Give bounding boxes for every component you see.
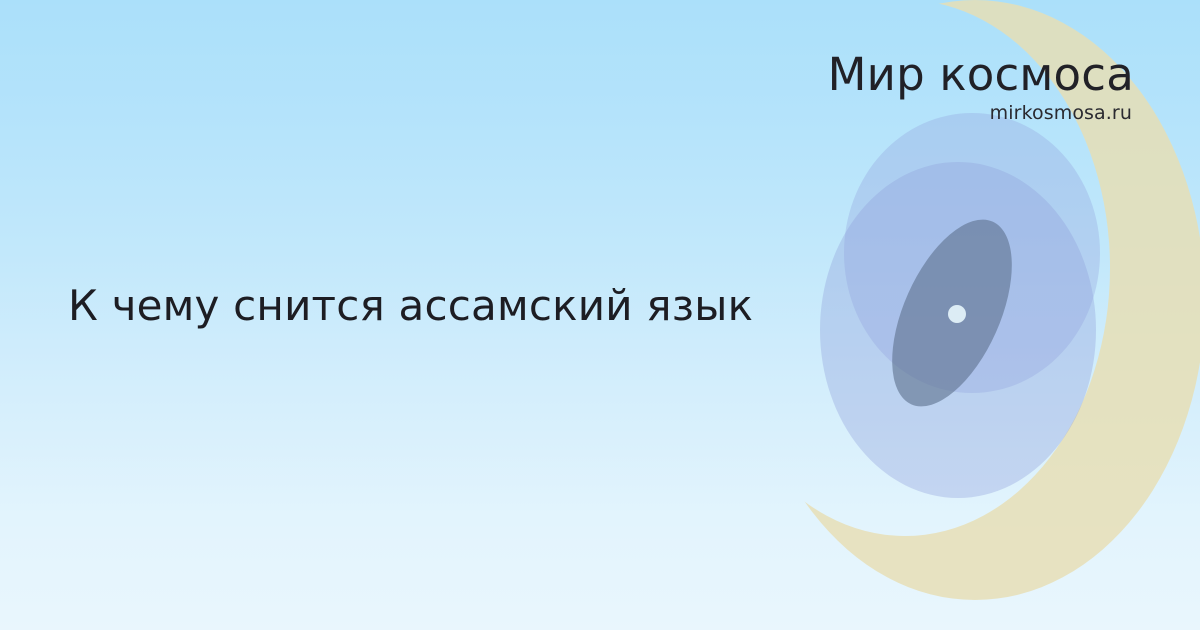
og-image-canvas: Мир космоса mirkosmosa.ru К чему снится … bbox=[0, 0, 1200, 630]
brand-title: Мир космоса bbox=[828, 52, 1134, 97]
page-title: К чему снится ассамский язык bbox=[68, 281, 753, 331]
brand-url[interactable]: mirkosmosa.ru bbox=[828, 104, 1132, 123]
center-dot bbox=[948, 305, 966, 323]
core-ellipse bbox=[867, 202, 1036, 424]
brand-logo-block[interactable]: Мир космоса mirkosmosa.ru bbox=[828, 52, 1134, 123]
circle-upper bbox=[844, 113, 1100, 393]
circle-lower bbox=[820, 162, 1096, 498]
